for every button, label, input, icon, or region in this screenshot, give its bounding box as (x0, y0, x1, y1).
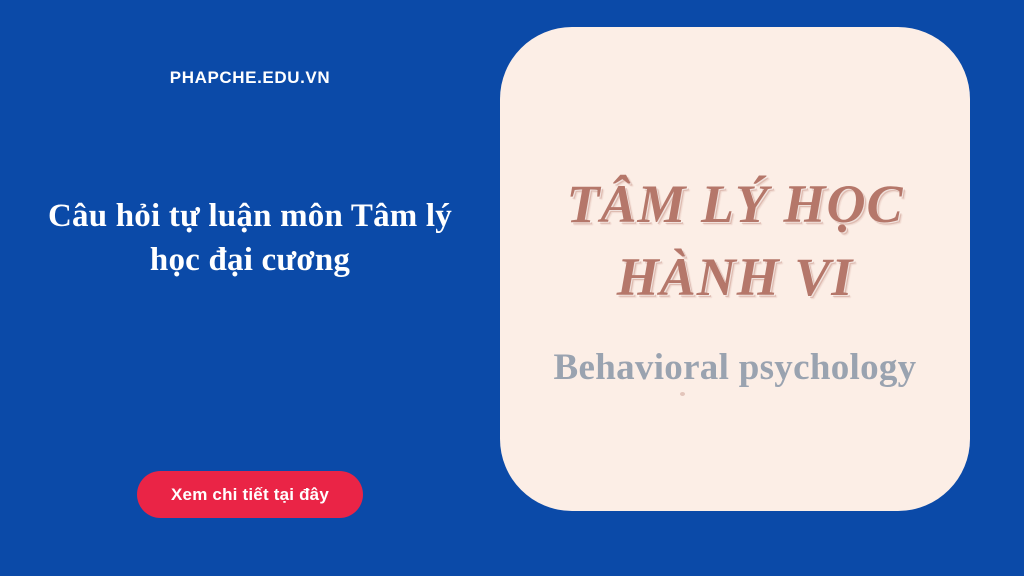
cover-card: TÂM LÝ HỌC HÀNH VI Behavioral psychology (500, 27, 970, 511)
decorative-speck (680, 392, 685, 396)
cover-title-line-2: HÀNH VI (500, 245, 970, 309)
view-details-button[interactable]: Xem chi tiết tại đây (137, 471, 363, 518)
left-content-column: PHAPCHE.EDU.VN Câu hỏi tự luận môn Tâm l… (0, 0, 500, 576)
site-brand-text: PHAPCHE.EDU.VN (0, 68, 500, 88)
promo-banner: PHAPCHE.EDU.VN Câu hỏi tự luận môn Tâm l… (0, 0, 1024, 576)
page-title: Câu hỏi tự luận môn Tâm lý học đại cương (20, 194, 480, 282)
cta-container: Xem chi tiết tại đây (0, 471, 500, 518)
cover-subtitle: Behavioral psychology (500, 345, 970, 391)
cover-title-line-1: TÂM LÝ HỌC (500, 172, 970, 236)
